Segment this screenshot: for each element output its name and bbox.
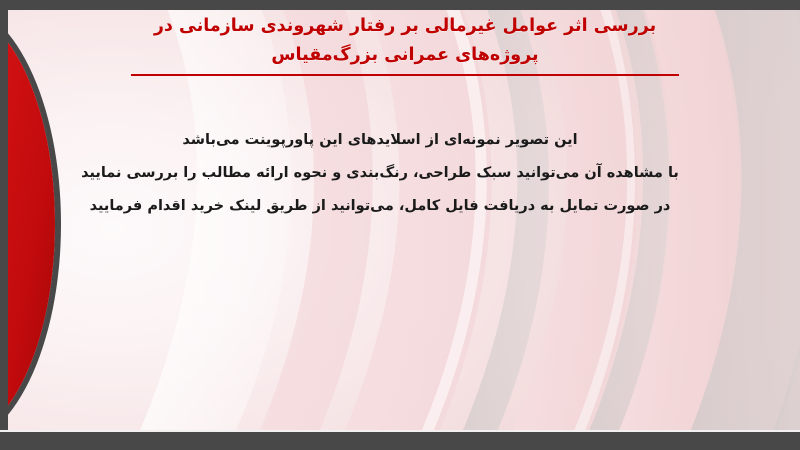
title-underline-divider <box>131 74 679 76</box>
body-line-1: این تصویر نمونه‌ای از اسلایدهای این پاور… <box>80 124 680 157</box>
slide-frame-bottom-hairline <box>0 430 800 432</box>
slide-title-line-1: بررسی اثر عوامل غیرمالی بر رفتار شهروندی… <box>120 12 690 41</box>
slide-frame-left-band <box>0 0 8 450</box>
slide-body-text: این تصویر نمونه‌ای از اسلایدهای این پاور… <box>80 124 680 223</box>
slide-title: بررسی اثر عوامل غیرمالی بر رفتار شهروندی… <box>120 12 690 76</box>
body-line-3: در صورت تمایل به دریافت فایل کامل، می‌تو… <box>80 190 680 223</box>
presentation-slide: بررسی اثر عوامل غیرمالی بر رفتار شهروندی… <box>0 0 800 450</box>
slide-frame-top-band <box>0 0 800 10</box>
body-line-2: با مشاهده آن می‌توانید سبک طراحی، رنگ‌بن… <box>80 157 680 190</box>
slide-title-line-2: پروژه‌های عمرانی بزرگ‌مقیاس <box>120 41 690 70</box>
slide-frame-bottom-band <box>0 432 800 450</box>
